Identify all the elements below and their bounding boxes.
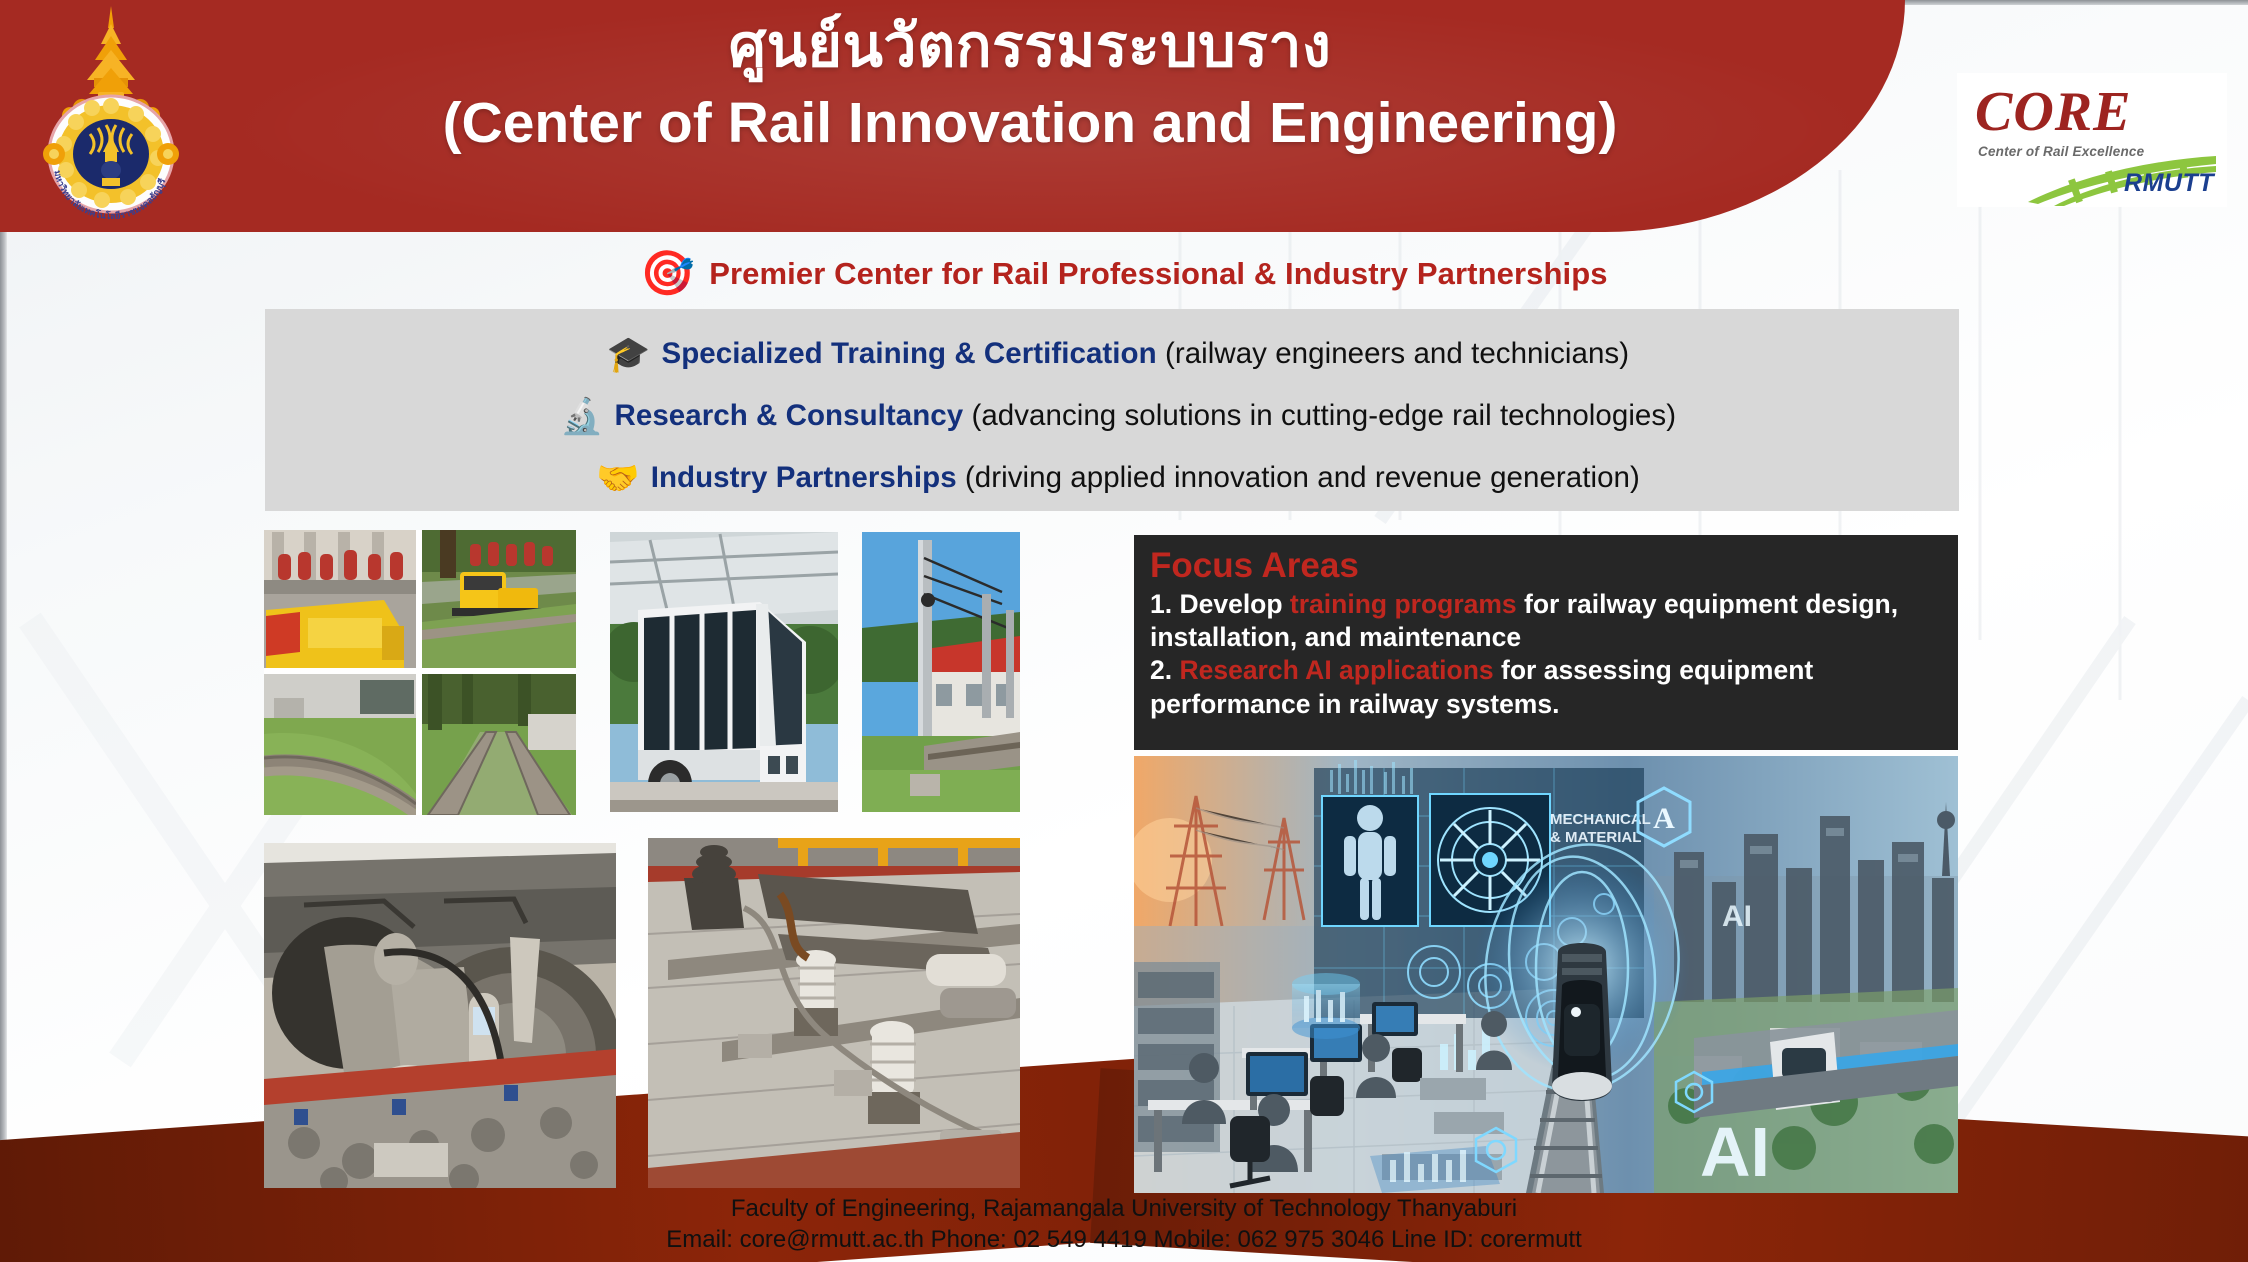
- highlight-detail: (advancing solutions in cutting-edge rai…: [963, 399, 1676, 432]
- highlight-item-research: 🔬 Research & Consultancy (advancing solu…: [265, 385, 1959, 447]
- focus-item-number: 1.: [1150, 589, 1179, 619]
- highlight-heading: Research & Consultancy: [615, 399, 964, 432]
- svg-text:AI: AI: [1722, 900, 1752, 933]
- highlights-panel: 🎓 Specialized Training & Certification (…: [265, 309, 1959, 511]
- core-affiliation: RMUTT: [2124, 169, 2214, 198]
- photo-grid-training: [264, 530, 576, 815]
- highlight-detail: (railway engineers and technicians): [1157, 337, 1629, 370]
- svg-text:A: A: [1653, 802, 1675, 835]
- highlight-heading: Specialized Training & Certification: [661, 337, 1156, 370]
- focus-item-lead: Develop: [1179, 589, 1289, 619]
- focus-areas-panel: Focus Areas 1. Develop training programs…: [1134, 535, 1958, 750]
- graduation-cap-icon: 🎓: [607, 337, 651, 372]
- photo-track-switch-machine: [648, 838, 1020, 1188]
- photo-curved-test-track: [264, 674, 416, 815]
- rmutt-university-emblem: มหาวิทยาลัยเทคโนโลยีราชมงคลธัญบุรี: [32, 2, 190, 220]
- page-title-english: (Center of Rail Innovation and Engineeri…: [250, 88, 1810, 159]
- footer: Faculty of Engineering, Rajamangala Univ…: [0, 1193, 2248, 1256]
- svg-text:AI: AI: [1700, 1113, 1770, 1191]
- ai-rail-engineering-illustration: MECHANICAL & MATERIAL A: [1134, 756, 1958, 1193]
- tagline: 🎯 Premier Center for Rail Professional &…: [0, 252, 2248, 296]
- header-title-block: ศูนย์นวัตกรรมระบบราง (Center of Rail Inn…: [250, 12, 1810, 159]
- focus-areas-title: Focus Areas: [1150, 547, 1940, 586]
- footer-contact: Email: core@rmutt.ac.th Phone: 02 549 44…: [0, 1224, 2248, 1256]
- highlight-item-training: 🎓 Specialized Training & Certification (…: [265, 323, 1959, 385]
- core-wordmark: CORE: [1975, 80, 2132, 144]
- focus-item-1: 1. Develop training programs for railway…: [1150, 588, 1940, 655]
- photo-training-class-locomotive: [264, 530, 416, 668]
- highlight-heading: Industry Partnerships: [651, 461, 957, 494]
- photo-bogie-wheelset: [264, 843, 616, 1188]
- page-title-thai: ศูนย์นวัตกรรมระบบราง: [250, 12, 1810, 82]
- highlight-detail: (driving applied innovation and revenue …: [957, 461, 1640, 494]
- photo-white-tram-vehicle: [610, 532, 838, 812]
- focus-item-2: 2. Research AI applications for assessin…: [1150, 654, 1940, 721]
- svg-text:MECHANICAL: MECHANICAL: [1550, 811, 1651, 828]
- handshake-icon: 🤝: [596, 461, 640, 496]
- focus-item-highlight: training programs: [1290, 589, 1517, 619]
- microscope-icon: 🔬: [560, 399, 604, 434]
- highlight-item-partnerships: 🤝 Industry Partnerships (driving applied…: [265, 447, 1959, 509]
- focus-item-number: 2.: [1150, 655, 1179, 685]
- focus-item-highlight: Research AI applications: [1179, 655, 1493, 685]
- photo-straight-test-track: [422, 674, 576, 815]
- footer-organization: Faculty of Engineering, Rajamangala Univ…: [0, 1193, 2248, 1225]
- photo-catenary-mast: [862, 532, 1020, 812]
- dart-target-icon: 🎯: [640, 252, 695, 296]
- photo-yellow-locomotive-on-track: [422, 530, 576, 668]
- tagline-text: Premier Center for Rail Professional & I…: [709, 256, 1607, 292]
- poster-root: มหาวิทยาลัยเทคโนโลยีราชมงคลธัญบุรี ศูนย์…: [0, 0, 2248, 1262]
- svg-text:& MATERIAL: & MATERIAL: [1550, 829, 1641, 846]
- core-logo[interactable]: CORE Center of Rail Excellence RMUTT: [1958, 74, 2226, 206]
